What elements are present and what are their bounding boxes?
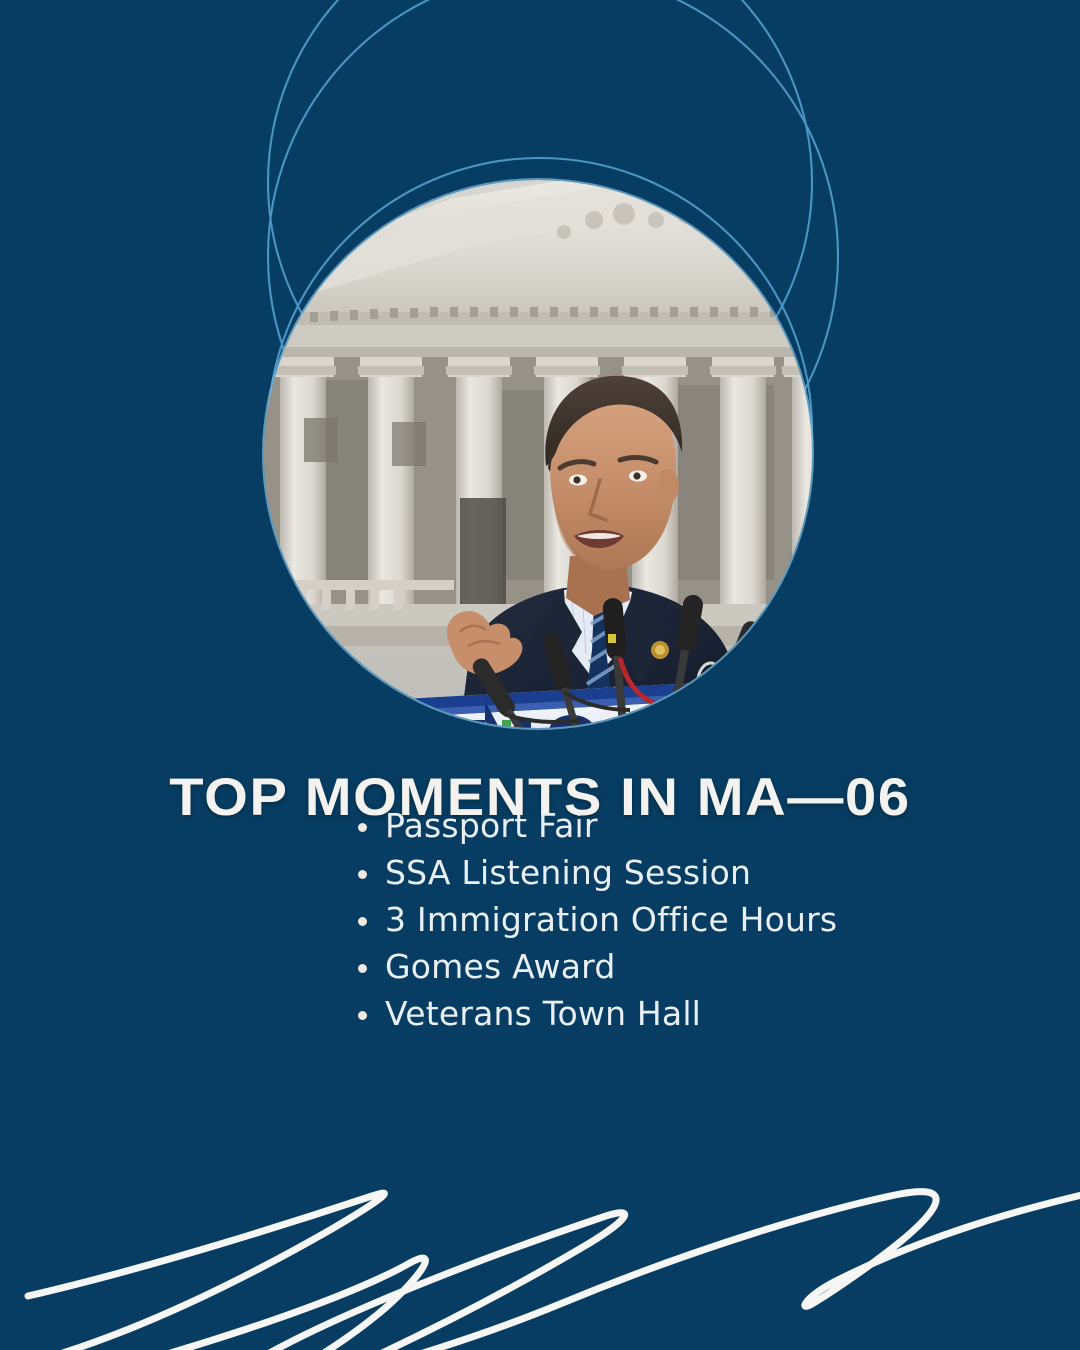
list-item-label: Passport Fair [385, 806, 598, 845]
portrait-photo [264, 180, 812, 728]
list-item: 3 Immigration Office Hours [358, 896, 837, 943]
list-item: SSA Listening Session [358, 849, 837, 896]
signature-icon [0, 1090, 1080, 1350]
moments-list: Passport Fair SSA Listening Session 3 Im… [358, 802, 837, 1037]
list-item-label: Gomes Award [385, 947, 615, 986]
list-item-label: SSA Listening Session [385, 853, 751, 892]
list-item: Gomes Award [358, 943, 837, 990]
list-item: Veterans Town Hall [358, 990, 837, 1037]
social-post-card: TOP MOMENTS IN MA—06 Passport Fair SSA L… [0, 0, 1080, 1350]
list-item-label: 3 Immigration Office Hours [385, 900, 837, 939]
portrait-circle [264, 180, 812, 728]
list-item-label: Veterans Town Hall [385, 994, 701, 1033]
list-item: Passport Fair [358, 802, 837, 849]
